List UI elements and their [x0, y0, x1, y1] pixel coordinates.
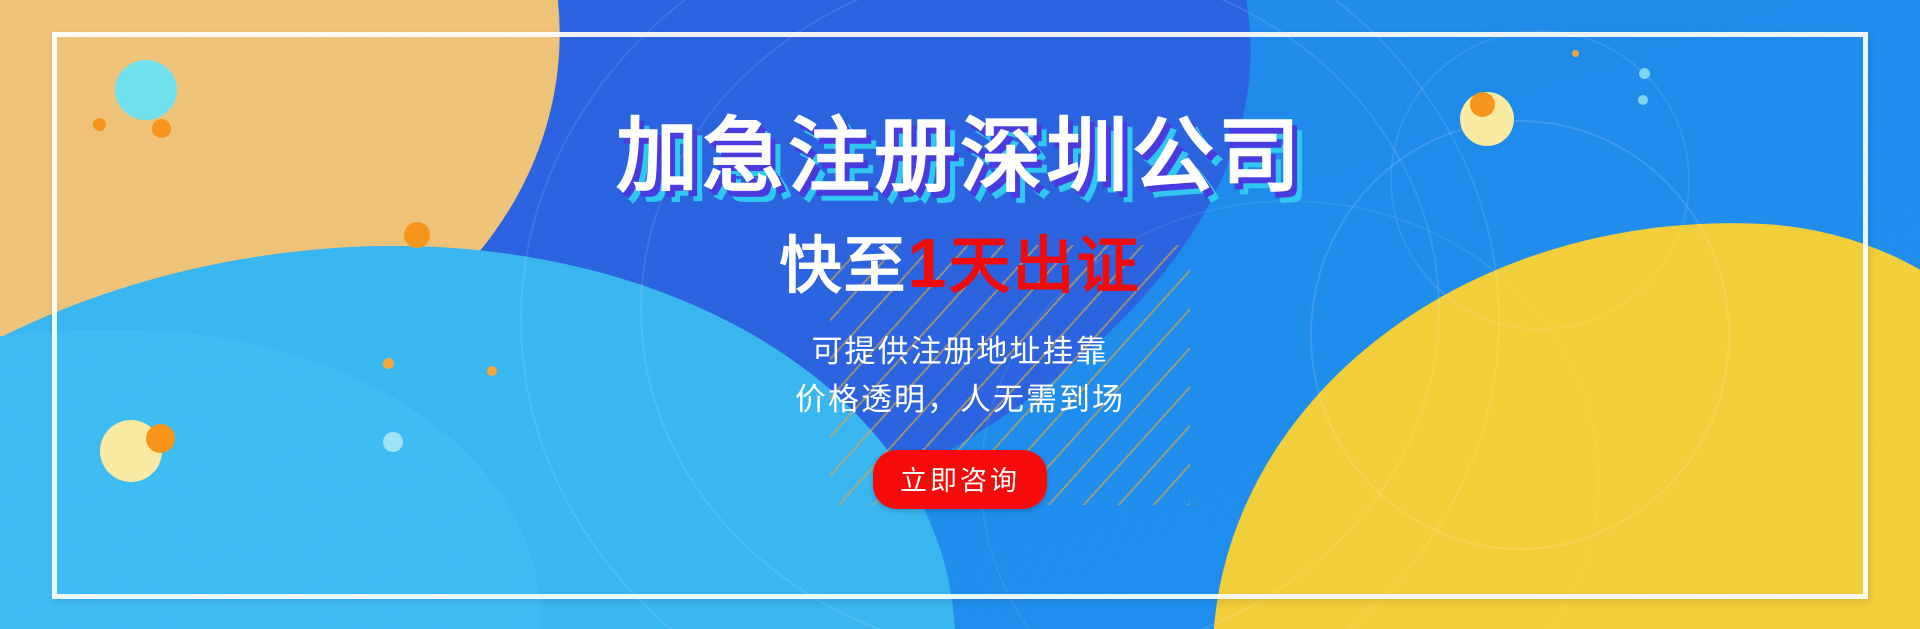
- subline-number: 1: [908, 224, 949, 302]
- banner-content: 加急注册深圳公司 快至1天出证 可提供注册地址挂靠 价格透明，人无需到场 立即咨…: [0, 0, 1920, 629]
- banner-description: 可提供注册地址挂靠 价格透明，人无需到场: [795, 328, 1125, 424]
- consult-now-button[interactable]: 立即咨询: [873, 450, 1047, 509]
- description-line-2: 价格透明，人无需到场: [795, 376, 1125, 424]
- subline-prefix: 快至: [780, 232, 908, 301]
- banner-subline: 快至1天出证: [780, 228, 1141, 298]
- promo-banner: 加急注册深圳公司 快至1天出证 可提供注册地址挂靠 价格透明，人无需到场 立即咨…: [0, 0, 1920, 629]
- description-line-1: 可提供注册地址挂靠: [795, 328, 1125, 376]
- banner-headline: 加急注册深圳公司: [616, 116, 1304, 198]
- subline-suffix: 天出证: [948, 232, 1140, 301]
